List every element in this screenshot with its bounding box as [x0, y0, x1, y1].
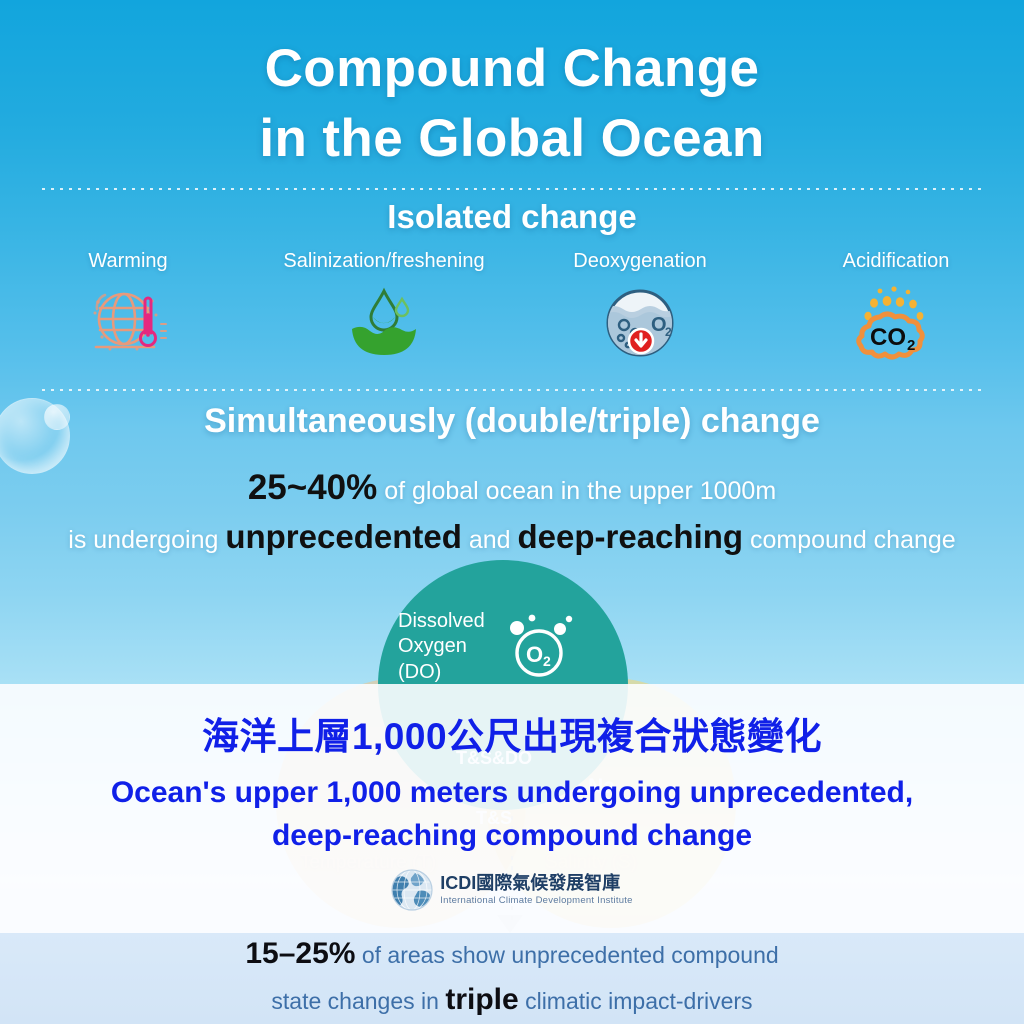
banner-headline-chinese: 海洋上層1,000公尺出現複合狀態變化 [0, 706, 1024, 760]
globe-thermometer-icon [80, 284, 176, 362]
driver-salinization-label: Salinization/freshening [256, 250, 512, 272]
infographic-poster: Compound Change in the Global Ocean Isol… [0, 0, 1024, 1024]
o2-bubbles-icon: O 2 [501, 608, 579, 687]
driver-deoxygenation: Deoxygenation [512, 250, 768, 362]
co2-cloud-icon: CO 2 [848, 284, 944, 362]
svg-text:2: 2 [665, 325, 672, 339]
driver-warming: Warming [0, 250, 256, 362]
compound-stat-value: 25~40% [248, 468, 377, 507]
divider-middle [42, 389, 982, 391]
bottom-stat-line-1: 15–25% of areas show unprecedented compo… [0, 937, 1024, 971]
bottom-stat-line-2: state changes in triple climatic impact-… [0, 983, 1024, 1017]
bottom-stat-value: 15–25% [245, 937, 355, 970]
svg-text:O: O [526, 642, 543, 667]
banner-english-line-2: deep-reaching compound change [0, 815, 1024, 858]
icdi-logo-name: ICDI國際氣候發展智庫 [440, 874, 632, 894]
dissolved-oxygen-content: Dissolved Oxygen (DO) O 2 [398, 602, 610, 692]
svg-text:2: 2 [543, 653, 551, 669]
do-line-2: Oxygen [398, 634, 485, 660]
banner-headline-english: Ocean's upper 1,000 meters undergoing un… [0, 772, 1024, 857]
do-line-1: Dissolved [398, 609, 485, 635]
bottom-line2-suffix: climatic impact-drivers [519, 988, 753, 1014]
divider-top [42, 188, 982, 190]
svg-text:CO: CO [870, 324, 906, 351]
dissolved-oxygen-label: Dissolved Oxygen (DO) [398, 609, 485, 686]
title-line-1: Compound Change [265, 39, 760, 98]
icdi-logo: ICDI國際氣候發展智庫 International Climate Devel… [0, 869, 1024, 911]
compound-stat-line-1: 25~40% of global ocean in the upper 1000… [0, 468, 1024, 508]
translation-banner: 海洋上層1,000公尺出現複合狀態變化 Ocean's upper 1,000 … [0, 684, 1024, 933]
driver-salinization: Salinization/freshening [256, 250, 512, 362]
driver-acidification: Acidification CO 2 [768, 250, 1024, 362]
bottom-stat-tail: of areas show unprecedented compound [355, 942, 778, 968]
water-drop-wave-icon [336, 284, 432, 362]
isolated-change-heading: Isolated change [0, 198, 1024, 236]
desc-bold-unprecedented: unprecedented [225, 518, 462, 555]
desc-prefix: is undergoing [68, 526, 225, 554]
icdi-logo-subtitle: International Climate Development Instit… [440, 895, 632, 906]
oxygen-decline-icon: O 2 [592, 284, 688, 362]
driver-deoxygenation-label: Deoxygenation [512, 250, 768, 272]
compound-stat-tail: of global ocean in the upper 1000m [377, 477, 776, 505]
driver-acidification-label: Acidification [768, 250, 1024, 272]
desc-bold-deep-reaching: deep-reaching [517, 518, 743, 555]
banner-english-line-1: Ocean's upper 1,000 meters undergoing un… [0, 772, 1024, 815]
desc-middle: and [462, 526, 518, 554]
icdi-logo-text: ICDI國際氣候發展智庫 International Climate Devel… [440, 874, 632, 906]
isolated-drivers-row: Warming [0, 250, 1024, 362]
bottom-line2-bold: triple [445, 983, 518, 1016]
title-line-2: in the Global Ocean [0, 104, 1024, 174]
simultaneous-change-heading: Simultaneously (double/triple) change [0, 402, 1024, 441]
driver-warming-label: Warming [0, 250, 256, 272]
poster-title: Compound Change in the Global Ocean [0, 34, 1024, 174]
desc-suffix: compound change [743, 526, 956, 554]
do-line-3: (DO) [398, 660, 485, 686]
bottom-line2-prefix: state changes in [271, 988, 445, 1014]
svg-text:2: 2 [907, 337, 915, 354]
globe-logo-icon [391, 869, 433, 911]
compound-stat-line-2: is undergoing unprecedented and deep-rea… [0, 518, 1024, 556]
